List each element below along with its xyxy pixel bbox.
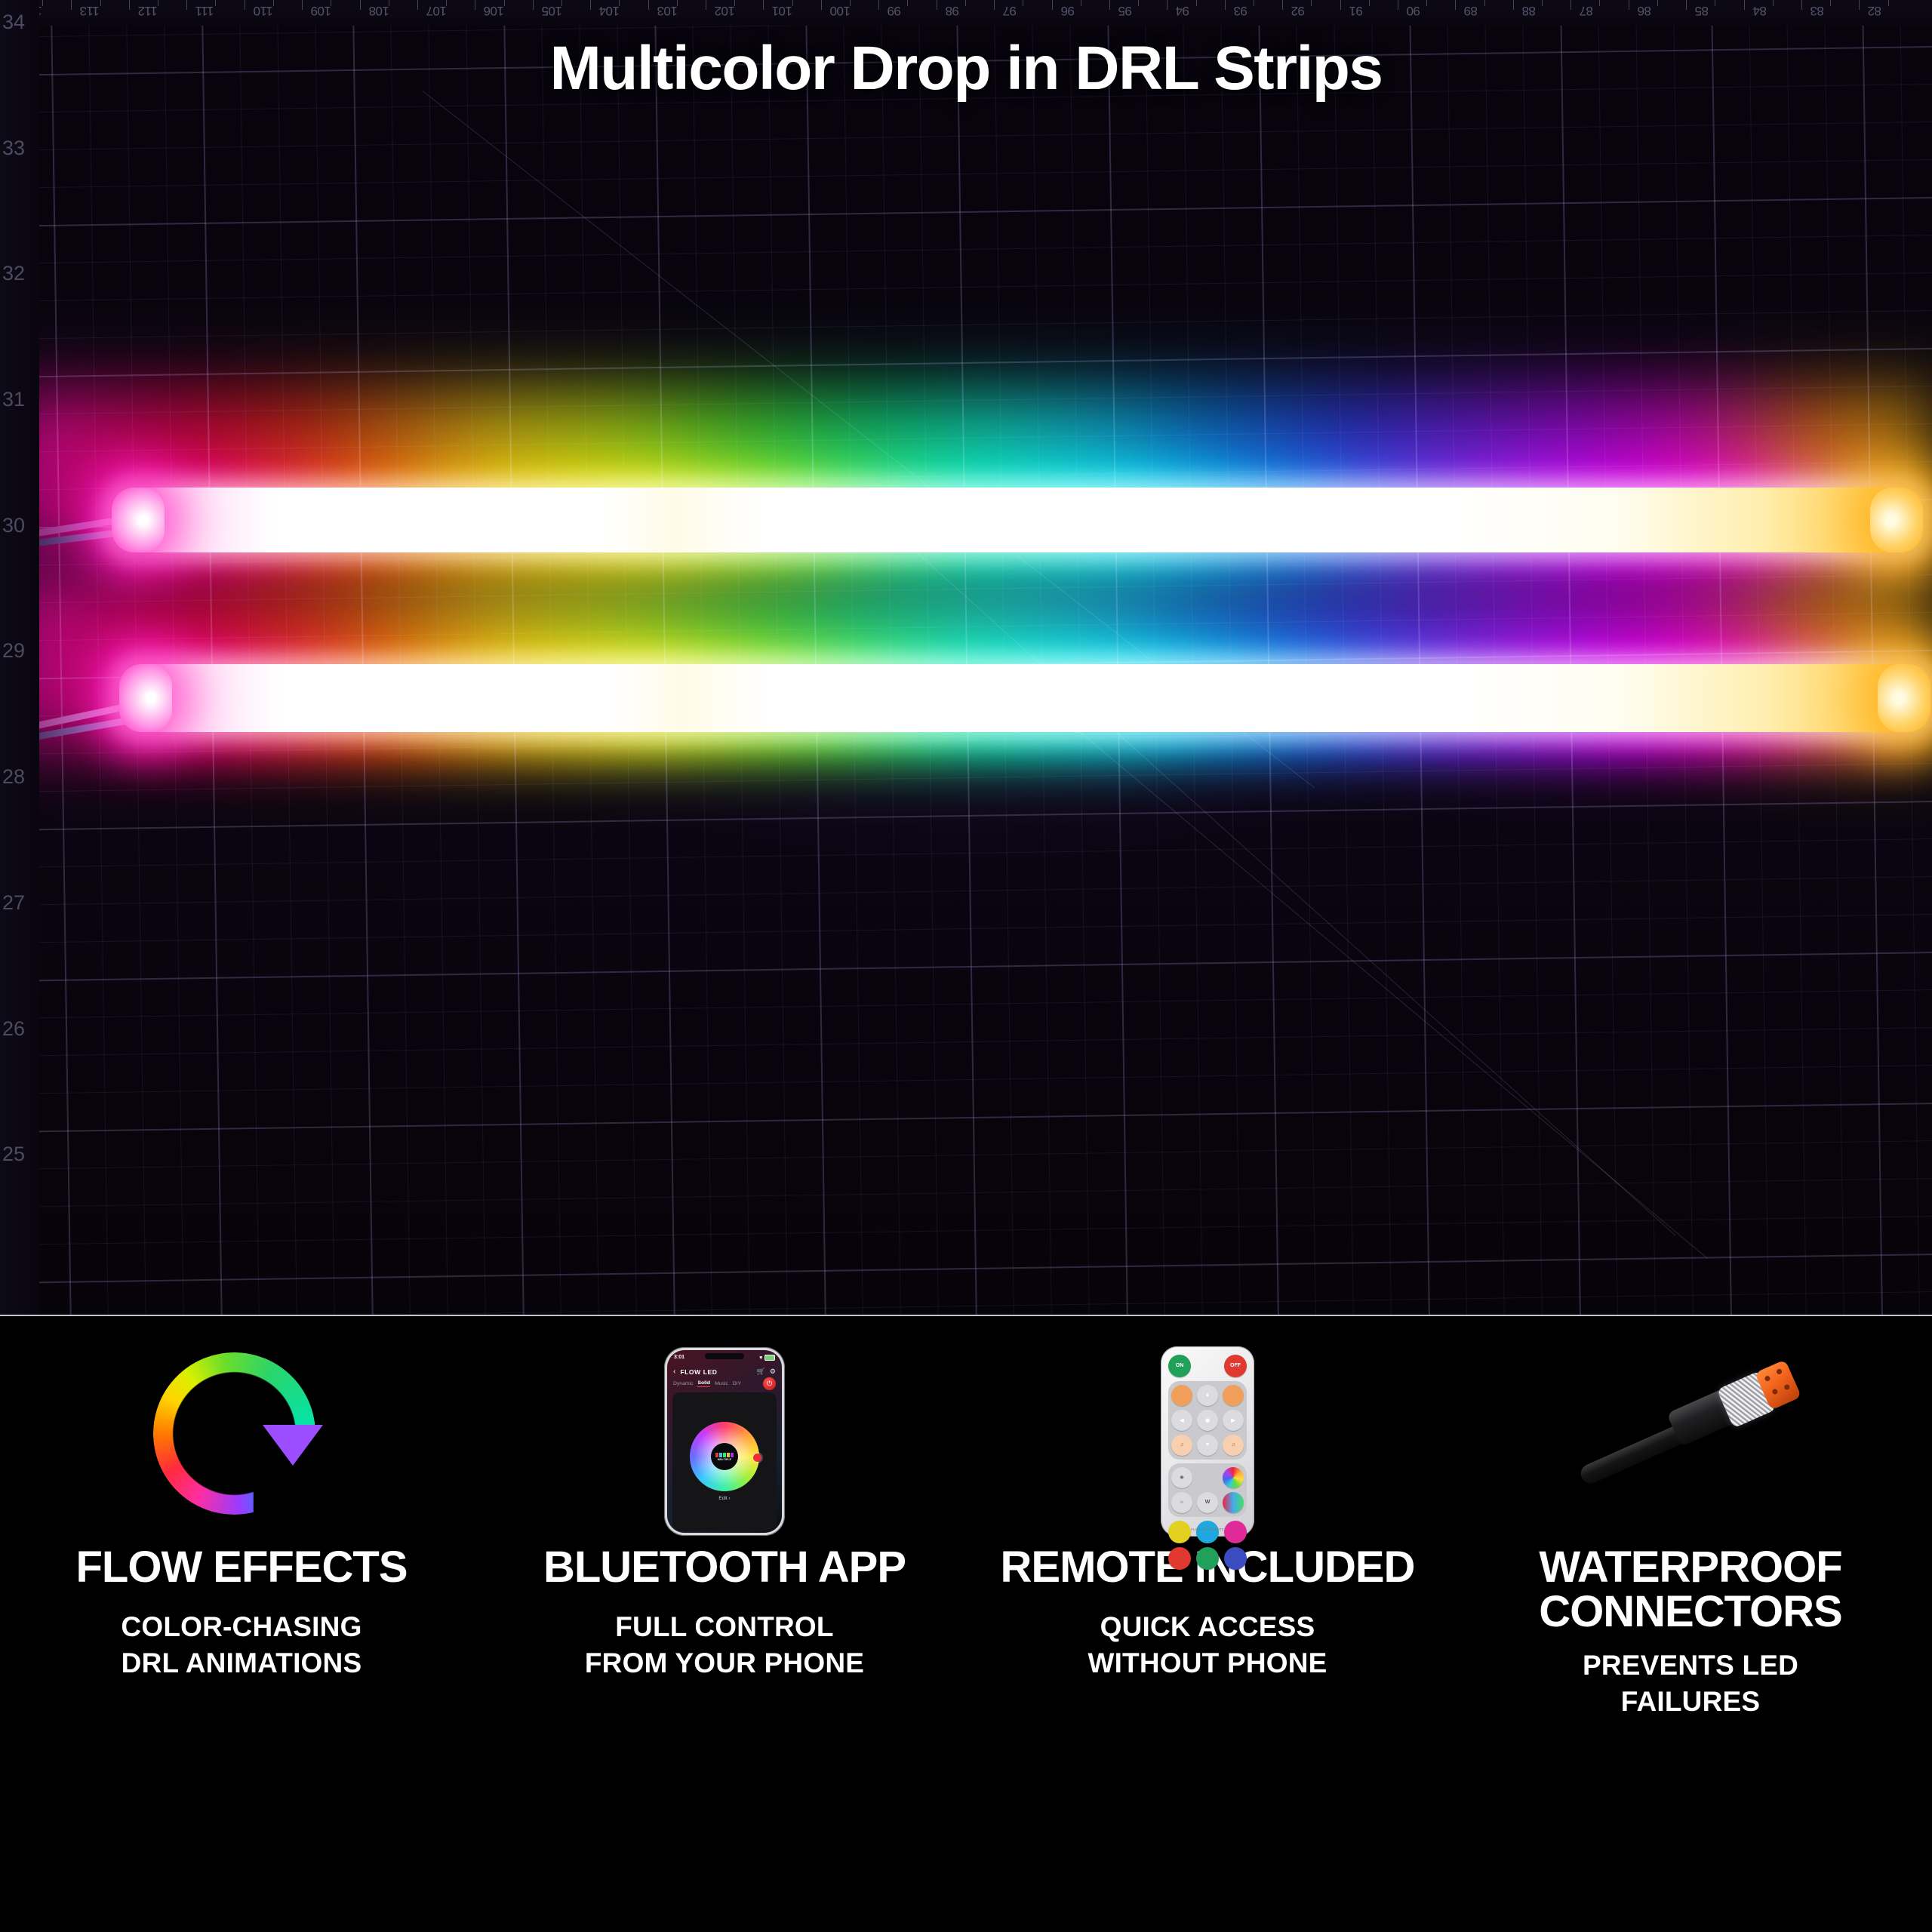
- ruler-tick-minor: [446, 0, 447, 6]
- ruler-top-number: 84: [1753, 3, 1767, 18]
- ruler-top-number: 94: [1176, 3, 1189, 18]
- grid-line-horizontal: [0, 950, 1932, 983]
- ruler-top-number: 92: [1291, 3, 1305, 18]
- ruler-tick-minor: [331, 0, 331, 6]
- ruler-tick-minor: [273, 0, 274, 6]
- remote-button-music-1[interactable]: ♫: [1171, 1435, 1192, 1456]
- ruler-tick-minor: [965, 0, 966, 6]
- ruler-top-number: 111: [195, 3, 214, 18]
- ruler-tick: [360, 0, 361, 10]
- ruler-tick-minor: [1254, 0, 1254, 6]
- ruler-left: 34333231302928272625: [0, 0, 39, 1315]
- feature-waterproof-connectors: WATERPROOF CONNECTORS PREVENTS LED FAILU…: [1449, 1316, 1932, 1932]
- feature-subtitle: PREVENTS LED FAILURES: [1583, 1647, 1798, 1719]
- ruler-tick: [821, 0, 822, 10]
- remote-button-ch-up[interactable]: [1223, 1385, 1244, 1406]
- feature-subtitle-line: COLOR-CHASING: [121, 1609, 361, 1644]
- ruler-top-number: 89: [1464, 3, 1478, 18]
- lower-drl-strip: [119, 664, 1930, 732]
- ruler-left-number: 25: [2, 1143, 25, 1166]
- hero-product-photo: 1141131121111101091081071061051041031021…: [0, 0, 1932, 1315]
- ruler-tick-minor: [1484, 0, 1485, 6]
- remote-button-cyan[interactable]: [1196, 1521, 1219, 1543]
- ruler-top-number: 95: [1118, 3, 1132, 18]
- ruler-tick: [1571, 0, 1571, 10]
- remote-row: ☀: [1171, 1467, 1244, 1488]
- remote-button-bright-down[interactable]: ☼: [1171, 1492, 1192, 1513]
- feature-title-line: WATERPROOF: [1539, 1545, 1841, 1589]
- color-chips: [715, 1453, 734, 1457]
- ruler-tick: [1052, 0, 1053, 10]
- remote-button-blue[interactable]: [1224, 1547, 1247, 1570]
- remote-row-power: ON OFF: [1168, 1355, 1247, 1377]
- ruler-tick-minor: [1599, 0, 1600, 6]
- remote-button-pink[interactable]: [1224, 1521, 1247, 1543]
- remote-button-auto[interactable]: ◉: [1197, 1410, 1218, 1431]
- ruler-tick: [71, 0, 72, 10]
- feature-flow-effects: FLOW EFFECTS COLOR-CHASING DRL ANIMATION…: [0, 1316, 483, 1932]
- waterproof-connector-icon: [1577, 1355, 1804, 1528]
- remote-row-colors-top: [1168, 1521, 1247, 1543]
- remote-button-speed-up[interactable]: ▲: [1197, 1385, 1218, 1406]
- ruler-top-number: 106: [484, 3, 504, 18]
- grid-line-horizontal: [0, 1290, 1932, 1315]
- wifi-icon: ▾: [759, 1355, 762, 1361]
- ruler-left-number: 30: [2, 514, 25, 537]
- lower-strip-right-cap: [1878, 664, 1930, 732]
- ruler-tick: [533, 0, 534, 10]
- remote-mode-panel: ▲ ◀ ◉ ▶ ♫ ▼ ♫: [1168, 1381, 1247, 1460]
- ruler-top-number: 109: [311, 3, 331, 18]
- ruler-tick-minor: [1426, 0, 1427, 6]
- grid-line-horizontal: [0, 346, 1932, 380]
- remote-row: ▲: [1171, 1385, 1244, 1406]
- ruler-tick: [475, 0, 475, 10]
- ruler-tick-minor: [1023, 0, 1023, 6]
- ruler-tick-minor: [1369, 0, 1370, 6]
- tab-solid[interactable]: Solid: [697, 1380, 710, 1388]
- ruler-left-number: 34: [2, 11, 25, 34]
- tab-diy[interactable]: DIY: [733, 1381, 741, 1386]
- ruler-top-number: 85: [1695, 3, 1709, 18]
- smartphone-app-icon: 3:01 ▾ ‹ FLOW LED 🛒 ⚙: [664, 1347, 785, 1536]
- feature-subtitle-line: FULL CONTROL: [585, 1609, 864, 1644]
- ruler-tick-minor: [561, 0, 562, 6]
- edit-link[interactable]: Edit ›: [718, 1496, 730, 1501]
- remote-off-button[interactable]: OFF: [1224, 1355, 1247, 1377]
- app-color-wheel[interactable]: MULTIPLE: [690, 1422, 759, 1491]
- feature-subtitle: FULL CONTROL FROM YOUR PHONE: [585, 1609, 864, 1681]
- gear-icon[interactable]: ⚙: [770, 1367, 776, 1376]
- ruler-top-number: 98: [946, 3, 959, 18]
- ruler-tick: [1225, 0, 1226, 10]
- back-chevron-icon[interactable]: ‹: [673, 1367, 675, 1376]
- ruler-top-number: 91: [1349, 3, 1363, 18]
- remote-row-colors-bottom: [1168, 1547, 1247, 1570]
- ruler-tick: [994, 0, 995, 10]
- page-title: Multicolor Drop in DRL Strips: [0, 33, 1932, 104]
- ruler-tick: [1629, 0, 1629, 10]
- remote-button-ch-down[interactable]: [1171, 1385, 1192, 1406]
- ruler-top-number: 112: [138, 3, 158, 18]
- ruler-tick-minor: [100, 0, 101, 6]
- feature-subtitle-line: QUICK ACCESS: [1088, 1609, 1327, 1644]
- remote-row: ☼ W: [1171, 1492, 1244, 1513]
- ruler-tick: [186, 0, 187, 10]
- ruler-tick-minor: [677, 0, 678, 6]
- ruler-tick: [1744, 0, 1745, 10]
- ruler-tick-minor: [158, 0, 158, 6]
- ruler-top-number: 105: [542, 3, 562, 18]
- remote-button-red[interactable]: [1168, 1547, 1191, 1570]
- feature-title: BLUETOOTH APP: [543, 1545, 906, 1589]
- ruler-top-number: 103: [657, 3, 678, 18]
- ruler-tick-minor: [1773, 0, 1774, 6]
- remote-button-white[interactable]: W: [1197, 1492, 1218, 1513]
- ruler-left-number: 29: [2, 639, 25, 663]
- ruler-tick: [245, 0, 245, 10]
- ruler-left-number: 32: [2, 262, 25, 285]
- upper-strip-core: [112, 488, 1923, 552]
- bluetooth-app-icon-wrap: 3:01 ▾ ‹ FLOW LED 🛒 ⚙: [483, 1345, 966, 1537]
- ruler-tick-minor: [1138, 0, 1139, 6]
- ruler-top-number: 99: [888, 3, 901, 18]
- tab-music[interactable]: Music: [715, 1381, 728, 1386]
- ruler-tick-minor: [504, 0, 505, 6]
- ruler-top-number: 104: [599, 3, 620, 18]
- ruler-tick: [763, 0, 764, 10]
- ruler-tick: [1801, 0, 1802, 10]
- grid-line-horizontal: [0, 1101, 1932, 1134]
- remote-button-yellow[interactable]: [1168, 1521, 1191, 1543]
- ruler-top-number: 96: [1061, 3, 1075, 18]
- ruler-left-number: 33: [2, 137, 25, 160]
- ruler-tick: [1109, 0, 1110, 10]
- ruler-tick-minor: [792, 0, 793, 6]
- ruler-tick-minor: [215, 0, 216, 6]
- feature-subtitle-line: PREVENTS LED: [1583, 1647, 1798, 1683]
- cart-icon[interactable]: 🛒: [757, 1367, 765, 1376]
- remote-button-music-2[interactable]: ♫: [1223, 1435, 1244, 1456]
- power-button[interactable]: ⏻: [763, 1377, 776, 1390]
- lower-strip-core: [119, 664, 1930, 732]
- ruler-tick-minor: [1196, 0, 1197, 6]
- color-mode-label: MULTIPLE: [718, 1458, 731, 1461]
- grid-line-horizontal: [0, 233, 1932, 266]
- feature-bar: FLOW EFFECTS COLOR-CHASING DRL ANIMATION…: [0, 1315, 1932, 1932]
- product-infographic: 1141131121111101091081071061051041031021…: [0, 0, 1932, 1932]
- feature-remote-included: ON OFF ▲ ◀ ◉ ▶: [966, 1316, 1449, 1932]
- ruler-top-number: 110: [254, 3, 273, 18]
- ruler-left-number: 31: [2, 388, 25, 411]
- grid-line-horizontal: [0, 1252, 1932, 1285]
- grid-line-horizontal: [0, 309, 1932, 341]
- ruler-top-number: 90: [1407, 3, 1420, 18]
- remote-button-bright-up[interactable]: ☀: [1171, 1467, 1192, 1488]
- ruler-tick: [1513, 0, 1514, 10]
- grid-line-horizontal: [0, 195, 1932, 229]
- ruler-top-number: 86: [1638, 3, 1651, 18]
- remote-footer-label: FLOW LED REMOTE: [1161, 1527, 1254, 1532]
- ruler-top-number: 88: [1522, 3, 1536, 18]
- phone-color-picker-card: MULTIPLE Edit ›: [672, 1392, 777, 1531]
- upper-drl-strip: [112, 488, 1923, 552]
- ruler-tick: [937, 0, 937, 10]
- ruler-top-number: 93: [1234, 3, 1247, 18]
- battery-icon: [764, 1355, 775, 1361]
- color-wheel-arrow-icon: [153, 1352, 331, 1530]
- phone-nav-bar: ‹ FLOW LED 🛒 ⚙: [667, 1365, 782, 1379]
- ruler-tick: [1340, 0, 1341, 10]
- ruler-top-number: 108: [369, 3, 389, 18]
- ruler-left-number: 27: [2, 891, 25, 915]
- ruler-tick-minor: [42, 0, 43, 6]
- feature-title: WATERPROOF CONNECTORS: [1539, 1545, 1841, 1634]
- remote-row: ◀ ◉ ▶: [1171, 1410, 1244, 1431]
- ruler-top-number: 100: [830, 3, 851, 18]
- remote-button-rainbow[interactable]: [1223, 1467, 1244, 1488]
- ruler-tick: [1282, 0, 1283, 10]
- ruler-tick: [129, 0, 130, 10]
- grid-line-horizontal: [0, 271, 1932, 303]
- feature-subtitle-line: WITHOUT PHONE: [1088, 1645, 1327, 1681]
- remote-button-mode-next[interactable]: ▶: [1223, 1410, 1244, 1431]
- connector-icon-wrap: [1449, 1345, 1932, 1537]
- ruler-left-number: 26: [2, 1017, 25, 1041]
- ruler-tick-minor: [1081, 0, 1081, 6]
- grid-line-horizontal: [0, 1026, 1932, 1058]
- grid-line-horizontal: [0, 1139, 1932, 1171]
- ruler-top-number: 113: [80, 3, 100, 18]
- flow-effects-icon-wrap: [0, 1345, 483, 1537]
- ruler-tick-minor: [1311, 0, 1312, 6]
- ruler-tick-minor: [389, 0, 389, 6]
- ruler-tick: [1167, 0, 1168, 10]
- feature-bluetooth-app: 3:01 ▾ ‹ FLOW LED 🛒 ⚙: [483, 1316, 966, 1932]
- feature-title-line: CONNECTORS: [1539, 1589, 1841, 1634]
- remote-icon-wrap: ON OFF ▲ ◀ ◉ ▶: [966, 1345, 1449, 1537]
- ruler-tick-minor: [850, 0, 851, 6]
- color-wheel-arrowhead: [263, 1425, 323, 1466]
- grid-line-horizontal: [0, 1214, 1932, 1247]
- ruler-tick-minor: [734, 0, 735, 6]
- phone-clock: 3:01: [674, 1355, 685, 1360]
- ruler-tick-minor: [907, 0, 908, 6]
- ruler-tick-minor: [1830, 0, 1831, 6]
- remote-button-mode-prev[interactable]: ◀: [1171, 1410, 1192, 1431]
- remote-button-green[interactable]: [1196, 1547, 1219, 1570]
- ruler-top-number: 97: [1003, 3, 1017, 18]
- ruler-tick-minor: [1542, 0, 1543, 6]
- remote-button-speed-down[interactable]: ▼: [1197, 1435, 1218, 1456]
- feature-subtitle-line: FAILURES: [1583, 1684, 1798, 1719]
- ruler-tick: [302, 0, 303, 10]
- ruler-top-number: 82: [1868, 3, 1881, 18]
- upper-strip-left-cap: [112, 488, 165, 552]
- ruler-top-number: 87: [1580, 3, 1593, 18]
- ruler-tick: [1686, 0, 1687, 10]
- ruler-tick: [878, 0, 879, 10]
- ruler-tick: [590, 0, 591, 10]
- app-color-wheel-center: MULTIPLE: [711, 1443, 738, 1470]
- ruler-tick-minor: [1888, 0, 1889, 6]
- ruler-top: 1141131121111101091081071061051041031021…: [0, 0, 1932, 26]
- lower-strip-left-cap: [119, 664, 172, 732]
- ruler-top-number: 102: [715, 3, 735, 18]
- feature-subtitle: QUICK ACCESS WITHOUT PHONE: [1088, 1609, 1327, 1681]
- grid-line-horizontal: [0, 158, 1932, 190]
- phone-status-bar: 3:01 ▾: [667, 1353, 782, 1362]
- phone-screen: 3:01 ▾ ‹ FLOW LED 🛒 ⚙: [667, 1350, 782, 1533]
- ruler-tick-minor: [1715, 0, 1715, 6]
- remote-button-rgb[interactable]: [1223, 1492, 1244, 1513]
- ruler-tick: [417, 0, 418, 10]
- ruler-top-number: 107: [426, 3, 447, 18]
- phone-tab-bar: Dynamic Solid Music DIY: [673, 1380, 776, 1388]
- feature-subtitle-line: DRL ANIMATIONS: [121, 1645, 361, 1681]
- remote-row: ♫ ▼ ♫: [1171, 1435, 1244, 1456]
- ruler-left-number: 28: [2, 765, 25, 789]
- remote-brightness-panel: ☀ ☼ W: [1168, 1463, 1247, 1517]
- ruler-tick: [1859, 0, 1860, 10]
- grid-line-horizontal: [0, 988, 1932, 1020]
- feature-title: FLOW EFFECTS: [75, 1545, 407, 1589]
- remote-on-button[interactable]: ON: [1168, 1355, 1191, 1377]
- ruler-tick: [648, 0, 649, 10]
- grid-line-horizontal: [0, 761, 1932, 794]
- grid-line-horizontal: [0, 120, 1932, 152]
- color-wheel-handle[interactable]: [753, 1454, 761, 1462]
- ir-remote-icon: ON OFF ▲ ◀ ◉ ▶: [1161, 1346, 1254, 1537]
- ruler-tick-minor: [619, 0, 620, 6]
- ruler-top-number: 83: [1810, 3, 1824, 18]
- grid-line-horizontal: [0, 1063, 1932, 1096]
- feature-subtitle-line: FROM YOUR PHONE: [585, 1645, 864, 1681]
- feature-subtitle: COLOR-CHASING DRL ANIMATIONS: [121, 1609, 361, 1681]
- ruler-top-number: 101: [772, 3, 792, 18]
- app-title: FLOW LED: [680, 1368, 752, 1376]
- upper-strip-right-cap: [1870, 488, 1923, 552]
- ruler-tick-minor: [1657, 0, 1658, 6]
- ruler-tick: [706, 0, 706, 10]
- ruler-tick: [1398, 0, 1398, 10]
- tab-dynamic[interactable]: Dynamic: [673, 1381, 693, 1386]
- ruler-tick: [1455, 0, 1456, 10]
